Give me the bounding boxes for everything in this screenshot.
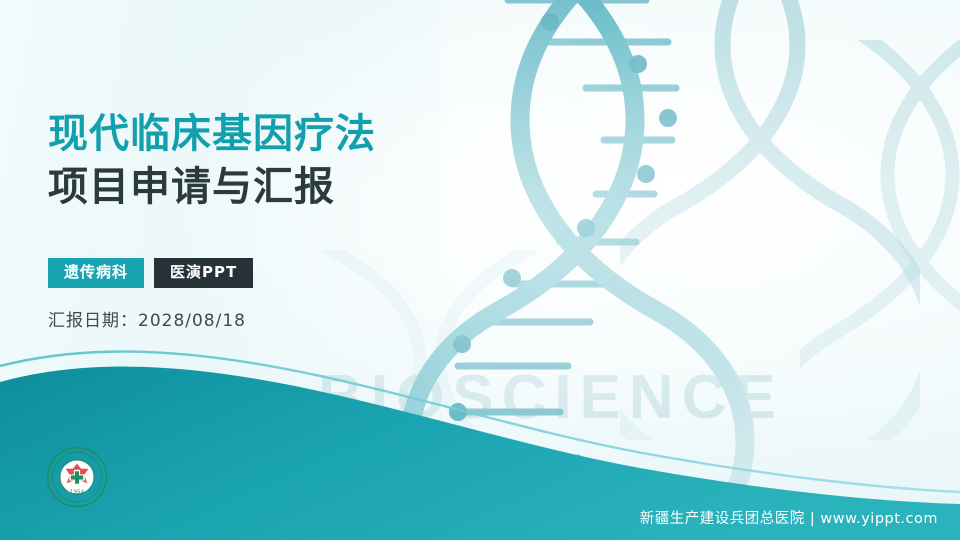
report-date: 汇报日期：2028/08/18 <box>48 306 246 331</box>
tag-group: 遗传病科 医演PPT <box>48 258 253 288</box>
title-line-1: 现代临床基因疗法 <box>48 108 518 161</box>
title-block: 现代临床基因疗法 项目申请与汇报 <box>48 108 518 214</box>
title-line-2: 项目申请与汇报 <box>48 161 518 214</box>
footer-credit: 新疆生产建设兵团总医院 | www.yippt.com <box>640 507 938 528</box>
tag-department[interactable]: 遗传病科 <box>48 258 144 288</box>
tag-brand[interactable]: 医演PPT <box>154 258 253 288</box>
logo-year: 1954 <box>70 490 85 496</box>
hospital-logo-icon: 1954 <box>46 446 108 508</box>
slide-canvas: BIOSCIENCE <box>0 0 960 540</box>
